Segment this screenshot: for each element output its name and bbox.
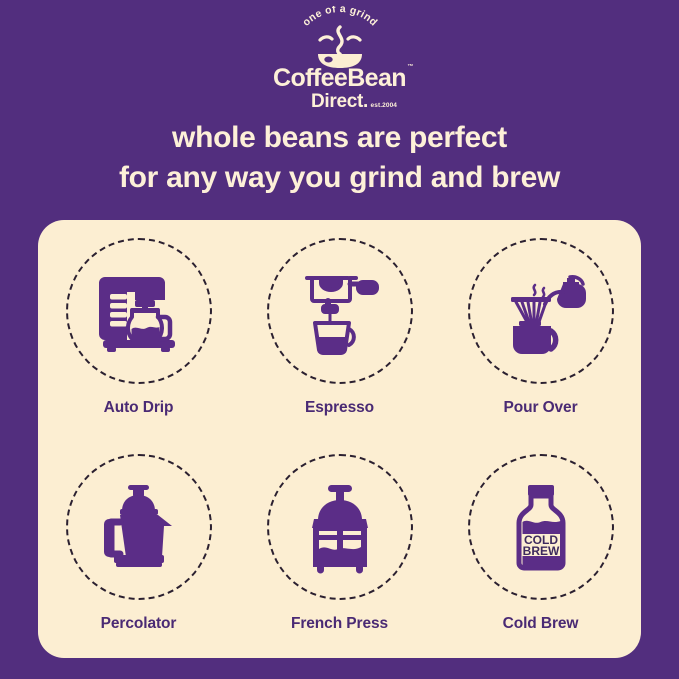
methods-card: Auto Drip	[38, 220, 641, 658]
percolator-pot-icon	[89, 477, 189, 577]
methods-grid: Auto Drip	[38, 220, 641, 658]
logo-name-line1-text: CoffeeBean	[273, 64, 406, 92]
icon-circle-espresso	[267, 238, 413, 384]
bottle-label-line2: BREW	[522, 544, 559, 558]
page-title: whole beans are perfect for any way you …	[0, 118, 679, 197]
logo-name-line1: CoffeeBean™	[273, 66, 406, 91]
logo-tagline-text: one of a grind	[300, 6, 380, 29]
method-label-french-press: French Press	[291, 615, 388, 633]
cold-brew-bottle-icon: COLD BREW	[491, 477, 591, 577]
portafilter-cup-icon	[290, 261, 390, 361]
method-item-auto-drip: Auto Drip	[38, 226, 239, 442]
icon-circle-percolator	[66, 454, 212, 600]
logo-wordmark: CoffeeBean™ Direct. est.2004	[273, 66, 406, 111]
headline-line-1: whole beans are perfect	[0, 118, 679, 158]
method-item-percolator: Percolator	[38, 442, 239, 658]
logo-established: est.2004	[371, 103, 397, 110]
french-press-icon	[290, 477, 390, 577]
trademark-symbol: ™	[408, 64, 413, 70]
headline-line-2: for any way you grind and brew	[0, 158, 679, 198]
brand-logo: one of a grind CoffeeBean™ Direct. e	[0, 6, 679, 106]
icon-circle-auto-drip	[66, 238, 212, 384]
method-label-pour-over: Pour Over	[503, 399, 577, 417]
icon-circle-cold-brew: COLD BREW	[468, 454, 614, 600]
method-item-cold-brew: COLD BREW Cold Brew	[440, 442, 641, 658]
coffee-cup-steam-icon: one of a grind	[280, 6, 400, 68]
drip-coffee-maker-icon	[89, 261, 189, 361]
method-item-pour-over: Pour Over	[440, 226, 641, 442]
method-label-cold-brew: Cold Brew	[503, 615, 579, 633]
svg-text:one of a grind: one of a grind	[300, 6, 380, 29]
promo-graphic: one of a grind CoffeeBean™ Direct. e	[0, 0, 679, 679]
method-label-espresso: Espresso	[305, 399, 374, 417]
method-label-percolator: Percolator	[101, 615, 177, 633]
icon-circle-french-press	[267, 454, 413, 600]
method-item-french-press: French Press	[239, 442, 440, 658]
logo-name-line2: Direct.	[311, 91, 368, 112]
method-label-auto-drip: Auto Drip	[104, 399, 174, 417]
icon-circle-pour-over	[468, 238, 614, 384]
method-item-espresso: Espresso	[239, 226, 440, 442]
gooseneck-kettle-dripper-icon	[491, 261, 591, 361]
